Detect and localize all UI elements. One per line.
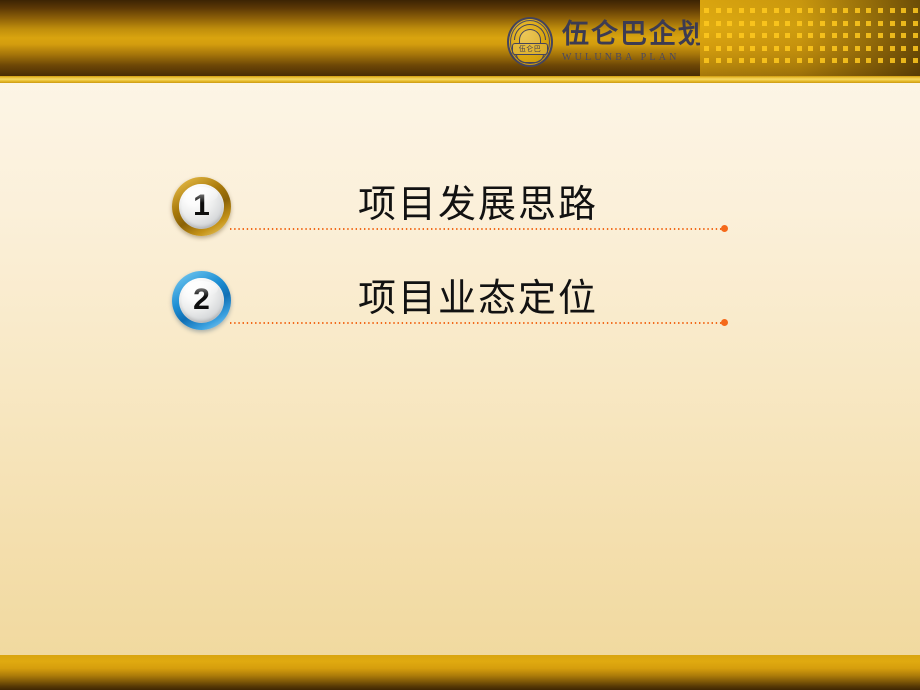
dotted-line-end-dot [721,319,728,326]
agenda-item-label-1: 项目发展思路 [358,178,598,230]
badge-disc: 1 [179,184,224,229]
dotted-line [230,228,722,230]
dotted-line [230,322,722,324]
agenda-item-1[interactable]: 1 项目发展思路 [172,177,772,237]
badge-number-text: 2 [193,285,210,315]
badge-disc: 2 [179,278,224,323]
agenda-dotted-rule-1 [230,227,728,230]
agenda-number-badge-1: 1 [172,177,231,236]
badge-number-text: 1 [193,191,210,221]
agenda-list: 1 项目发展思路 2 项目业态定位 [0,0,920,690]
agenda-item-label-2: 项目业态定位 [358,272,598,324]
agenda-number-badge-2: 2 [172,271,231,330]
agenda-item-2[interactable]: 2 项目业态定位 [172,271,772,331]
presentation-slide: 伍仑巴 伍仑巴企划 WULUNBA PLAN 1 [0,0,920,690]
slide-footer-band [0,655,920,690]
agenda-dotted-rule-2 [230,321,728,324]
dotted-line-end-dot [721,225,728,232]
